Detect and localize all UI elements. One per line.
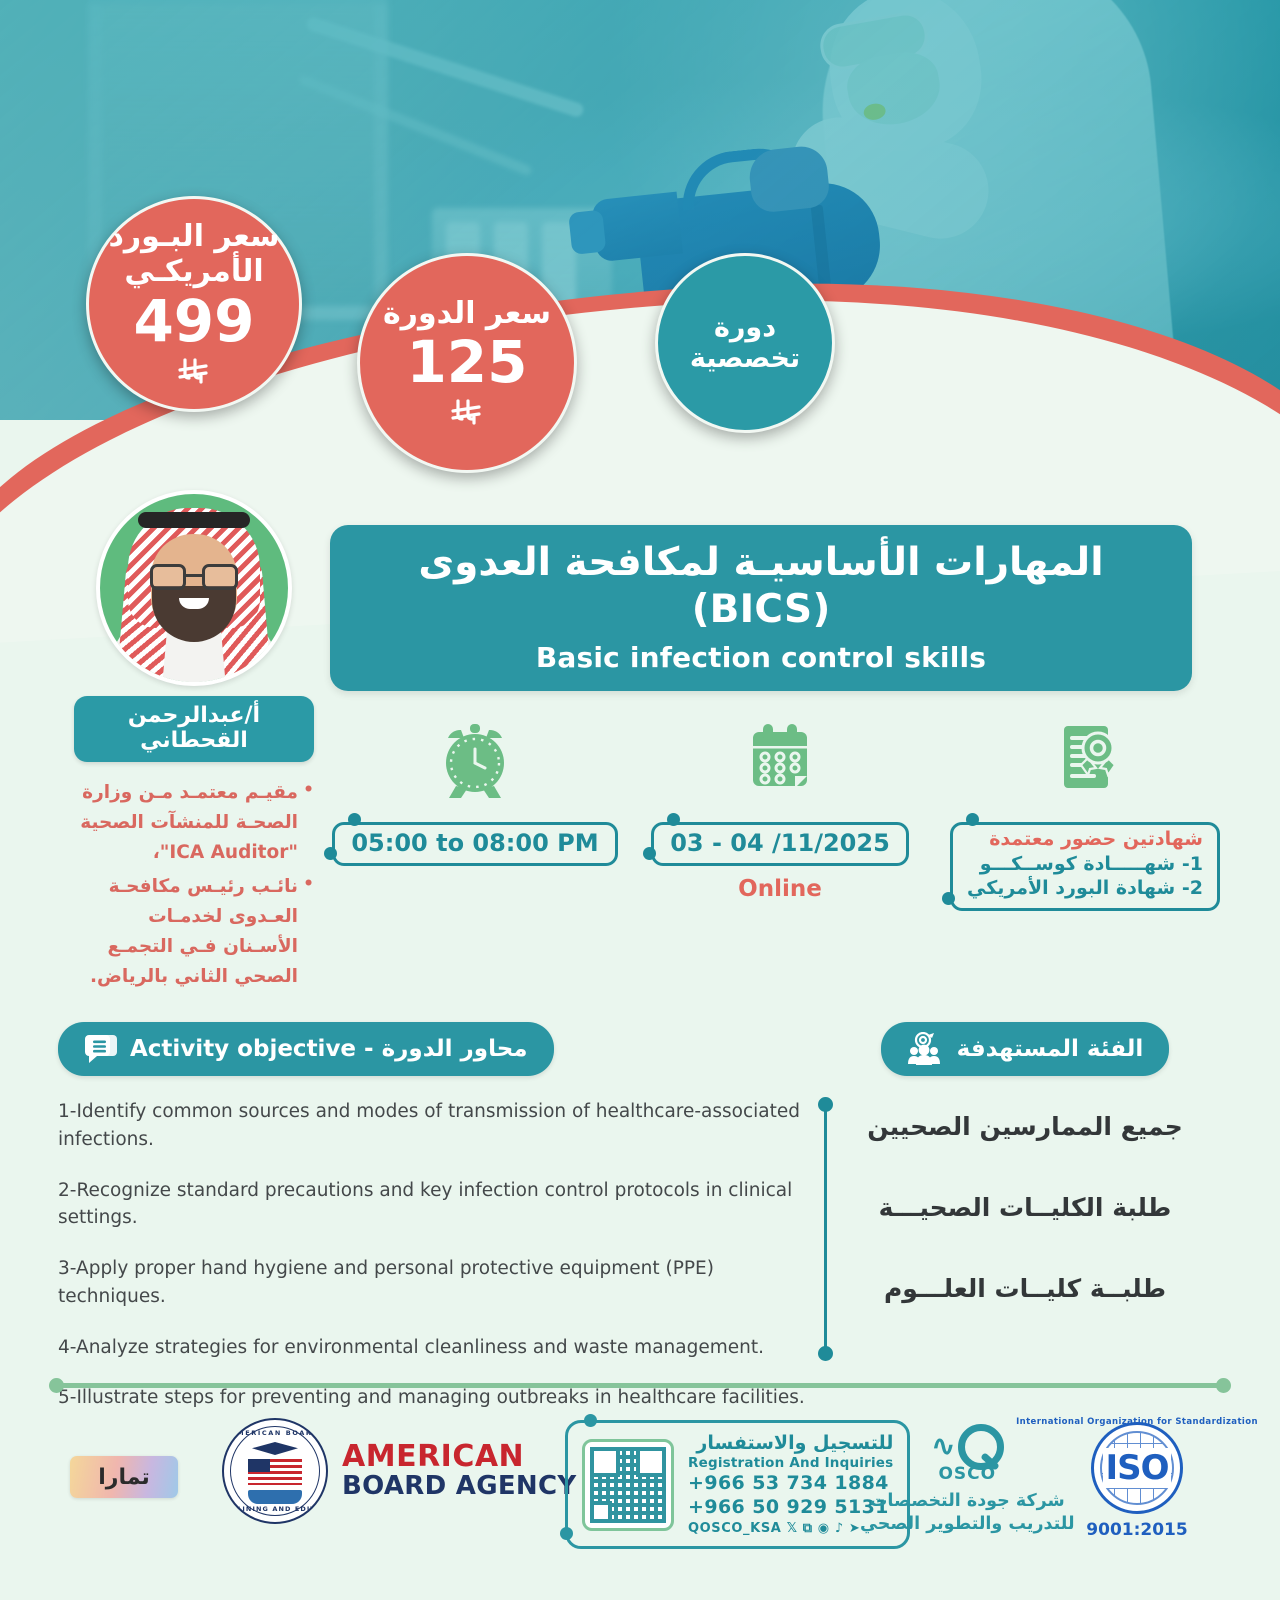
section-divider-vertical — [824, 1104, 827, 1354]
certificates-heading: شهادتين حضور معتمدة — [967, 828, 1203, 852]
info-certificates: شهادتين حضور معتمدة 1- شهـــــادة كوســك… — [940, 718, 1230, 911]
badge-specialized-course: دورة تخصصية — [655, 253, 835, 433]
osco-name-ar: شركة جودة التخصصات للتدريب والتطوير الصح… — [860, 1490, 1075, 1536]
footer-divider — [56, 1383, 1224, 1388]
american-board-agency-logo: AMERICAN BOARD FOR TRAINING AND EDUCATIO… — [222, 1418, 577, 1524]
audience-section: الفئة المستهدفة جميع الممارسين الصحيين ط… — [840, 1022, 1210, 1355]
audience-list: جميع الممارسين الصحيين طلبة الكليــات ال… — [840, 1112, 1210, 1303]
audience-item: طلبة الكليــات الصحيـــة — [840, 1193, 1210, 1222]
course-title-english: Basic infection control skills — [354, 641, 1168, 674]
saudi-riyal-icon — [177, 354, 211, 388]
iso-code: 9001:2015 — [1072, 1520, 1202, 1540]
certificates-pill: شهادتين حضور معتمدة 1- شهـــــادة كوســك… — [950, 822, 1220, 911]
audience-header-chip: الفئة المستهدفة — [881, 1022, 1170, 1076]
glasses-icon — [150, 564, 238, 590]
time-pill-wrap: 05:00 to 08:00 PM — [332, 822, 617, 866]
badge-course-amount: 125 — [406, 333, 527, 391]
audience-chip-label: الفئة المستهدفة — [957, 1036, 1144, 1062]
objectives-chip-label: Activity objective - محاور الدورة — [130, 1036, 528, 1062]
iso-certification-logo: ISO International Organization for Stand… — [1072, 1422, 1202, 1540]
certificate-item: 2- شهادة البورد الأمريكي — [967, 876, 1203, 901]
objective-item: 3-Apply proper hand hygiene and personal… — [58, 1255, 818, 1311]
course-time: 05:00 to 08:00 PM — [332, 822, 617, 866]
saudi-riyal-icon — [450, 395, 484, 429]
aba-name-line2: BOARD AGENCY — [342, 1472, 577, 1501]
badge-course-price: سعر الدورة 125 — [357, 253, 577, 473]
speaker-name: أ/عبدالرحمن القحطاني — [74, 696, 314, 762]
info-time: 05:00 to 08:00 PM — [330, 718, 620, 866]
badge-board-price: سعر البـورد الأمريكـي 499 — [86, 196, 302, 412]
osco-logo: ∿ OSCO شركة جودة التخصصات للتدريب والتطو… — [860, 1424, 1075, 1536]
certificate-item: 1- شهـــــادة كوســكـــو — [967, 852, 1203, 877]
speaker-avatar — [96, 490, 292, 686]
card-dot — [584, 1414, 597, 1427]
speaker-card: أ/عبدالرحمن القحطاني مقيـم معتمـد مـن وز… — [74, 490, 314, 996]
audience-item: جميع الممارسين الصحيين — [840, 1112, 1210, 1141]
qr-code[interactable] — [582, 1439, 674, 1531]
course-info-row: 05:00 to 08:00 PM — [330, 718, 1230, 911]
iso-arc-text: International Organization for Standardi… — [1016, 1417, 1258, 1427]
course-poster: سعر البـورد الأمريكـي 499 سعر الدورة 125 — [0, 0, 1280, 1600]
badge-board-amount: 499 — [133, 292, 254, 350]
course-mode: Online — [738, 876, 822, 902]
calendar-icon — [737, 718, 823, 804]
certificates-pill-wrap: شهادتين حضور معتمدة 1- شهـــــادة كوســك… — [950, 822, 1220, 911]
objective-item: 1-Identify common sources and modes of t… — [58, 1098, 818, 1154]
objectives-header-chip: Activity objective - محاور الدورة — [58, 1022, 554, 1076]
objectives-list: 1-Identify common sources and modes of t… — [58, 1098, 818, 1412]
objective-item: 4-Analyze strategies for environmental c… — [58, 1334, 818, 1362]
aba-seal-bottom-text: FOR TRAINING AND EDUCATION — [222, 1505, 328, 1513]
speaker-bio-item: مقيـم معتمـد مـن وزارة الصحـة للمنشآت ال… — [74, 778, 314, 868]
pill-dot — [966, 813, 979, 826]
registration-contact-card[interactable]: للتسجيل والاستفسار Registration And Inqu… — [565, 1420, 910, 1549]
badge-board-label: سعر البـورد الأمريكـي — [89, 220, 299, 290]
course-date: 03 - 04 /11/2025 — [651, 822, 909, 866]
tamara-logo: تمارا — [70, 1456, 178, 1498]
objectives-section: Activity objective - محاور الدورة 1-Iden… — [58, 1022, 818, 1435]
footer-logos: تمارا AMERICAN BOARD FOR TRAINING AND ED… — [0, 1400, 1280, 1600]
aba-seal-icon: AMERICAN BOARD FOR TRAINING AND EDUCATIO… — [222, 1418, 328, 1524]
badge-course-label: سعر الدورة — [383, 297, 551, 332]
iso-globe-icon: ISO International Organization for Stand… — [1091, 1422, 1183, 1514]
audience-item: طلبــة كليــات العلـــوم — [840, 1274, 1210, 1303]
target-audience-icon — [907, 1032, 945, 1066]
objective-item: 2-Recognize standard precautions and key… — [58, 1177, 818, 1233]
card-dot — [560, 1527, 573, 1540]
speech-bubble-list-icon — [84, 1032, 118, 1066]
date-pill-wrap: 03 - 04 /11/2025 — [651, 822, 909, 866]
aba-name-line1: AMERICAN — [342, 1441, 577, 1473]
aba-seal-top-text: AMERICAN BOARD — [230, 1429, 319, 1437]
certificate-icon — [1042, 718, 1128, 804]
speaker-bio-list: مقيـم معتمـد مـن وزارة الصحـة للمنشآت ال… — [74, 778, 314, 992]
info-date: 03 - 04 /11/2025 Online — [635, 718, 925, 902]
course-title-arabic: المهارات الأساسيـة لمكافحة العدوى (BICS) — [354, 540, 1168, 634]
alarm-clock-icon — [432, 718, 518, 804]
osco-wordmark: OSCO — [860, 1464, 1075, 1484]
course-title-banner: المهارات الأساسيـة لمكافحة العدوى (BICS)… — [330, 525, 1192, 691]
speaker-bio-item: نائـب رئيـس مكافحـة العـدوى لخدمـات الأس… — [74, 872, 314, 992]
badge-specialized-label: دورة تخصصية — [658, 312, 832, 375]
